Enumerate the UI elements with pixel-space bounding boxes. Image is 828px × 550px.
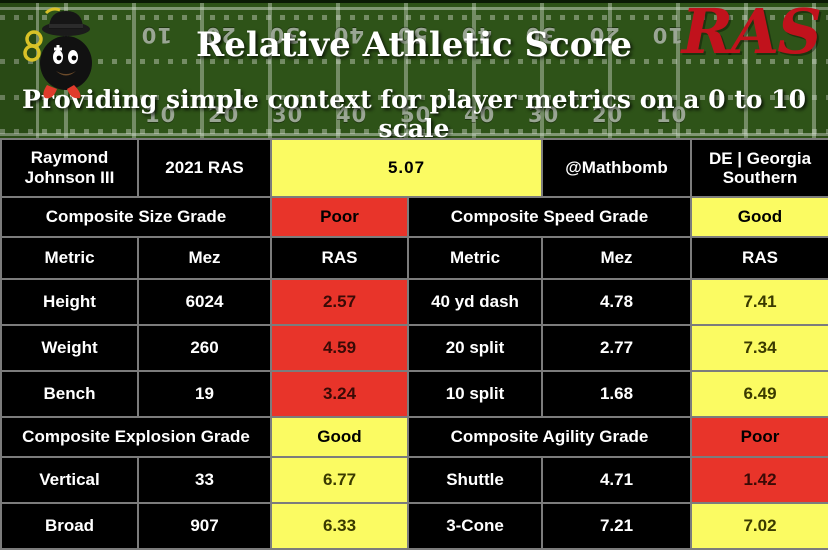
metric-value: 1.68	[542, 371, 691, 417]
position-school: DE | Georgia Southern	[691, 139, 828, 197]
composite-speed-label: Composite Speed Grade	[408, 197, 691, 237]
metric-label: Vertical	[1, 457, 138, 503]
ras-card: 102030405040302010 102030405040302010 RA…	[0, 0, 828, 460]
metric-ras: 4.59	[271, 325, 408, 371]
metric-value: 260	[138, 325, 271, 371]
metric-value: 7.21	[542, 503, 691, 549]
composite-size-grade: Poor	[271, 197, 408, 237]
table-row: Height 6024 2.57 40 yd dash 4.78 7.41	[1, 279, 828, 325]
metric-value: 33	[138, 457, 271, 503]
author-handle: @Mathbomb	[542, 139, 691, 197]
table-row: Weight 260 4.59 20 split 2.77 7.34	[1, 325, 828, 371]
metric-value: 4.78	[542, 279, 691, 325]
metric-label: Shuttle	[408, 457, 542, 503]
metric-ras: 2.57	[271, 279, 408, 325]
table-row: Bench 19 3.24 10 split 1.68 6.49	[1, 371, 828, 417]
metric-label: Bench	[1, 371, 138, 417]
ras-logo-mark: RAS	[682, 1, 820, 63]
column-header-mez-left: Mez	[138, 237, 271, 279]
metric-ras: 7.34	[691, 325, 828, 371]
metric-ras: 3.24	[271, 371, 408, 417]
column-header-row: Metric Mez RAS Metric Mez RAS	[1, 237, 828, 279]
metric-value: 907	[138, 503, 271, 549]
metric-ras: 7.41	[691, 279, 828, 325]
metric-label: Weight	[1, 325, 138, 371]
column-header-metric-left: Metric	[1, 237, 138, 279]
overall-ras-score: 5.07	[271, 139, 542, 197]
metric-value: 4.71	[542, 457, 691, 503]
ras-table: Raymond Johnson III 2021 RAS 5.07 @Mathb…	[0, 138, 828, 550]
table-row: Vertical 33 6.77 Shuttle 4.71 1.42	[1, 457, 828, 503]
column-header-mez-right: Mez	[542, 237, 691, 279]
metric-label: 3-Cone	[408, 503, 542, 549]
metric-ras: 6.77	[271, 457, 408, 503]
composite-speed-grade: Good	[691, 197, 828, 237]
metric-label: 20 split	[408, 325, 542, 371]
metric-label: Broad	[1, 503, 138, 549]
metric-label: 10 split	[408, 371, 542, 417]
metric-label: 40 yd dash	[408, 279, 542, 325]
bomb-mascot-icon	[16, 5, 108, 105]
ras-year-label: 2021 RAS	[138, 139, 271, 197]
header-banner: 102030405040302010 102030405040302010 RA…	[0, 0, 828, 138]
composite-size-label: Composite Size Grade	[1, 197, 271, 237]
metric-label: Height	[1, 279, 138, 325]
column-header-metric-right: Metric	[408, 237, 542, 279]
composite-explosion-grade: Good	[271, 417, 408, 457]
page-subtitle: Providing simple context for player metr…	[0, 85, 828, 138]
table-row: Broad 907 6.33 3-Cone 7.21 7.02	[1, 503, 828, 549]
player-name: Raymond Johnson III	[1, 139, 138, 197]
composite-explosion-label: Composite Explosion Grade	[1, 417, 271, 457]
player-info-row: Raymond Johnson III 2021 RAS 5.07 @Mathb…	[1, 139, 828, 197]
metric-ras: 7.02	[691, 503, 828, 549]
metric-ras: 6.33	[271, 503, 408, 549]
column-header-ras-left: RAS	[271, 237, 408, 279]
metric-ras: 6.49	[691, 371, 828, 417]
composite-agility-grade: Poor	[691, 417, 828, 457]
metric-value: 6024	[138, 279, 271, 325]
composite-size-speed-row: Composite Size Grade Poor Composite Spee…	[1, 197, 828, 237]
metric-ras: 1.42	[691, 457, 828, 503]
metric-value: 19	[138, 371, 271, 417]
metric-value: 2.77	[542, 325, 691, 371]
composite-agility-label: Composite Agility Grade	[408, 417, 691, 457]
composite-explosion-agility-row: Composite Explosion Grade Good Composite…	[1, 417, 828, 457]
column-header-ras-right: RAS	[691, 237, 828, 279]
